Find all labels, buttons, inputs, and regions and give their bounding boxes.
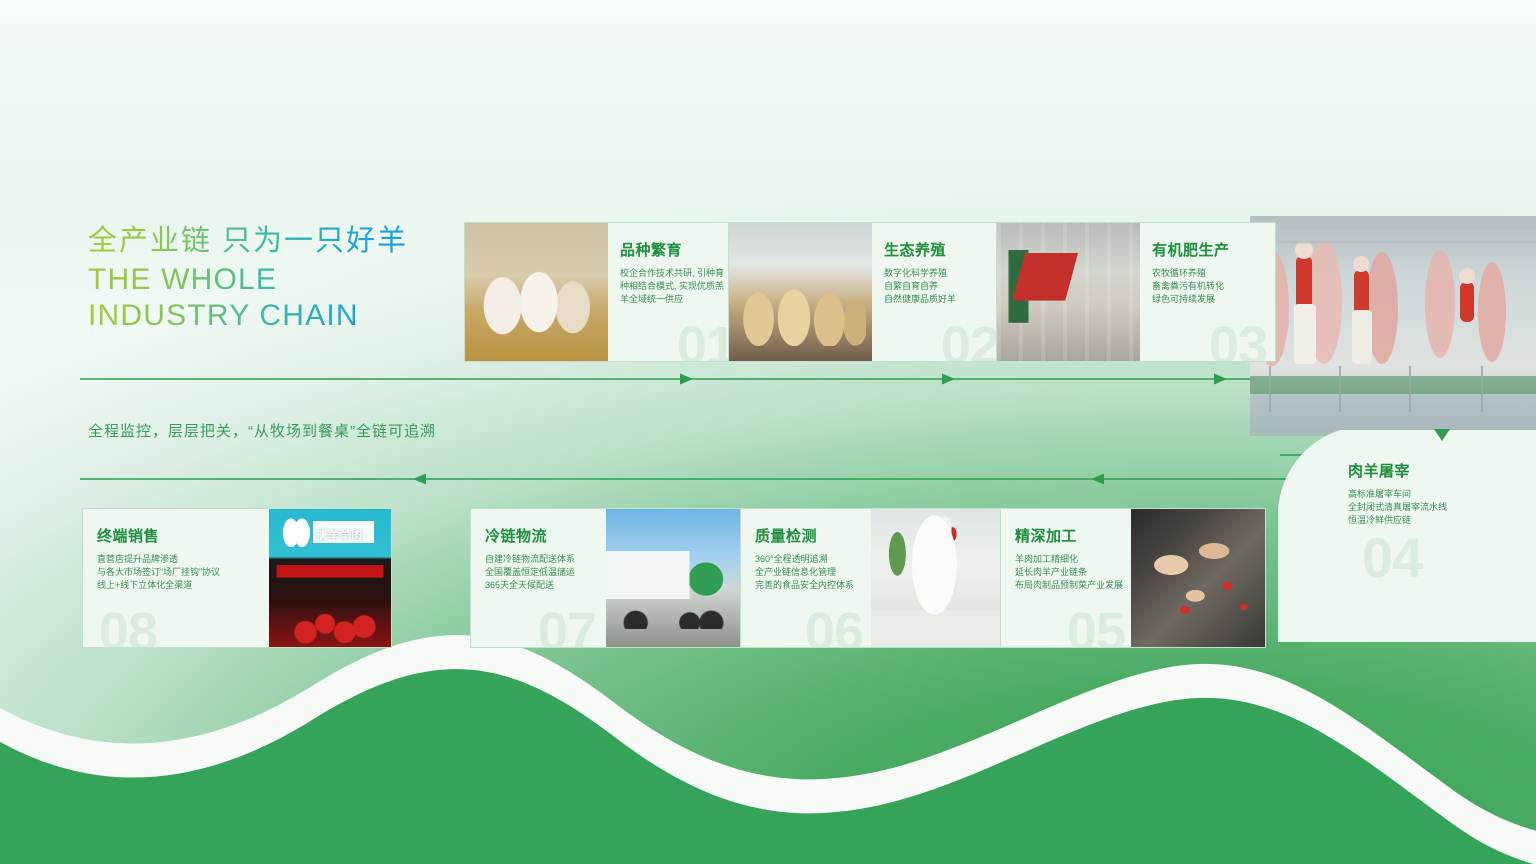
step-line: 自繁自育自养 bbox=[884, 280, 997, 293]
headline-block: 全产业链 只为一只好羊 THE WHOLE INDUSTRY CHAIN bbox=[88, 224, 408, 334]
headline-english-line2: INDUSTRY CHAIN bbox=[88, 298, 408, 334]
step-line: 农牧循环养殖 bbox=[1152, 267, 1265, 280]
step-number: 01 bbox=[677, 319, 735, 361]
step-line: 羊肉加工精细化 bbox=[1015, 553, 1121, 566]
step-line: 自然健康品质好羊 bbox=[884, 293, 997, 306]
step-line: 畜禽粪污有机转化 bbox=[1152, 280, 1265, 293]
step-title: 生态养殖 bbox=[884, 239, 997, 260]
step-card-05[interactable]: 精深加工 羊肉加工精细化 延长肉羊产业链条 布局肉制品预制菜产业发展 05 bbox=[1000, 508, 1266, 648]
step-line: 数字化科学养殖 bbox=[884, 267, 997, 280]
step-lines: 直营店提升品牌渗透 与各大市场签订“场厂挂钩”协议 线上+线下立体化全渠道 bbox=[97, 553, 259, 592]
step-line: 360°全程透明追溯 bbox=[755, 553, 861, 566]
step-line: 全国覆盖恒定低温储运 bbox=[485, 566, 596, 579]
headline-english-line1: THE WHOLE bbox=[88, 262, 408, 298]
step-card-01-text: 品种繁育 校企合作技术共研, 引种育 种相结合模式, 实现优质羔 羊全域统一供应… bbox=[608, 223, 743, 361]
step-lines: 高标准屠宰车间 全封闭式清真屠宰流水线 恒温冷鲜供应链 bbox=[1348, 488, 1530, 527]
step-line: 全封闭式清真屠宰流水线 bbox=[1348, 501, 1530, 514]
step-line: 高标准屠宰车间 bbox=[1348, 488, 1530, 501]
step-card-05-text: 精深加工 羊肉加工精细化 延长肉羊产业链条 布局肉制品预制菜产业发展 05 bbox=[1001, 509, 1131, 647]
step-card-08-text: 终端销售 直营店提升品牌渗透 与各大市场签订“场厂挂钩”协议 线上+线下立体化全… bbox=[83, 509, 269, 647]
step-number: 08 bbox=[99, 605, 157, 647]
lab-inspection-photo bbox=[871, 509, 1003, 648]
arrow-right-icon bbox=[680, 374, 693, 385]
step-title: 冷链物流 bbox=[485, 525, 596, 546]
step-title: 终端销售 bbox=[97, 525, 259, 546]
step-card-06[interactable]: 质量检测 360°全程透明追溯 全产业链信息化管理 完善的食品安全内控体系 06 bbox=[740, 508, 1004, 648]
step-line: 绿色可持续发展 bbox=[1152, 293, 1265, 306]
step-title: 精深加工 bbox=[1015, 525, 1121, 546]
step-line: 校企合作技术共研, 引种育 bbox=[620, 267, 733, 280]
arrow-right-icon bbox=[942, 374, 955, 385]
arrow-left-icon bbox=[413, 474, 426, 485]
processed-meat-photo bbox=[1131, 509, 1265, 648]
step-line: 羊全域统一供应 bbox=[620, 293, 733, 306]
step-card-01[interactable]: 品种繁育 校企合作技术共研, 引种育 种相结合模式, 实现优质羔 羊全域统一供应… bbox=[464, 222, 744, 362]
step-number: 05 bbox=[1067, 605, 1125, 647]
step-card-07-text: 冷链物流 自建冷链物流配送体系 全国覆盖恒定低温储运 365天全天候配送 07 bbox=[471, 509, 606, 647]
retail-store-photo: 唐羊羊肉 bbox=[269, 509, 391, 648]
step-card-04[interactable]: 肉羊屠宰 高标准屠宰车间 全封闭式清真屠宰流水线 恒温冷鲜供应链 04 bbox=[1340, 436, 1536, 636]
step-line: 自建冷链物流配送体系 bbox=[485, 553, 596, 566]
step-card-06-text: 质量检测 360°全程透明追溯 全产业链信息化管理 完善的食品安全内控体系 06 bbox=[741, 509, 871, 647]
step-line: 完善的食品安全内控体系 bbox=[755, 579, 861, 592]
step-card-02-text: 生态养殖 数字化科学养殖 自繁自育自养 自然健康品质好羊 02 bbox=[872, 223, 1007, 361]
step-title: 有机肥生产 bbox=[1152, 239, 1265, 260]
step-number: 06 bbox=[805, 605, 863, 647]
step-line: 与各大市场签订“场厂挂钩”协议 bbox=[97, 566, 259, 579]
step-number: 03 bbox=[1209, 319, 1267, 361]
step-number: 07 bbox=[538, 605, 596, 647]
flow-rail-forward bbox=[80, 372, 1310, 386]
slaughter-line-photo-large bbox=[1250, 216, 1536, 436]
step-line: 布局肉制品预制菜产业发展 bbox=[1015, 579, 1121, 592]
step-number: 02 bbox=[941, 319, 999, 361]
arrow-down-icon bbox=[1432, 428, 1452, 442]
step-line: 线上+线下立体化全渠道 bbox=[97, 579, 259, 592]
flow-caption: 全程监控，层层把关，“从牧场到餐桌”全链可追溯 bbox=[88, 420, 436, 441]
step-line: 延长肉羊产业链条 bbox=[1015, 566, 1121, 579]
step-card-03[interactable]: 有机肥生产 农牧循环养殖 畜禽粪污有机转化 绿色可持续发展 03 bbox=[996, 222, 1276, 362]
poster-stage: 全产业链 只为一只好羊 THE WHOLE INDUSTRY CHAIN 全程监… bbox=[0, 0, 1536, 864]
step-number: 04 bbox=[1362, 530, 1422, 586]
step-lines: 自建冷链物流配送体系 全国覆盖恒定低温储运 365天全天候配送 bbox=[485, 553, 596, 592]
headline-chinese: 全产业链 只为一只好羊 bbox=[88, 224, 408, 258]
step-card-08[interactable]: 终端销售 直营店提升品牌渗透 与各大市场签订“场厂挂钩”协议 线上+线下立体化全… bbox=[82, 508, 392, 648]
step-title: 质量检测 bbox=[755, 525, 861, 546]
step-line: 全产业链信息化管理 bbox=[755, 566, 861, 579]
step-card-07[interactable]: 冷链物流 自建冷链物流配送体系 全国覆盖恒定低温储运 365天全天候配送 07 bbox=[470, 508, 742, 648]
arrow-left-icon bbox=[1091, 474, 1104, 485]
step-lines: 校企合作技术共研, 引种育 种相结合模式, 实现优质羔 羊全域统一供应 bbox=[620, 267, 733, 306]
step-lines: 农牧循环养殖 畜禽粪污有机转化 绿色可持续发展 bbox=[1152, 267, 1265, 306]
arrow-right-icon bbox=[1214, 374, 1227, 385]
step-lines: 羊肉加工精细化 延长肉羊产业链条 布局肉制品预制菜产业发展 bbox=[1015, 553, 1121, 592]
step-title: 品种繁育 bbox=[620, 239, 733, 260]
step-card-03-text: 有机肥生产 农牧循环养殖 畜禽粪污有机转化 绿色可持续发展 03 bbox=[1140, 223, 1275, 361]
step-lines: 数字化科学养殖 自繁自育自养 自然健康品质好羊 bbox=[884, 267, 997, 306]
barn-sheep-photo bbox=[729, 223, 872, 362]
step-lines: 360°全程透明追溯 全产业链信息化管理 完善的食品安全内控体系 bbox=[755, 553, 861, 592]
step-card-02[interactable]: 生态养殖 数字化科学养殖 自繁自育自养 自然健康品质好羊 02 bbox=[728, 222, 1008, 362]
flow-rail-reverse bbox=[80, 472, 1310, 486]
step-line: 365天全天候配送 bbox=[485, 579, 596, 592]
store-sign-text: 唐羊羊肉 bbox=[301, 523, 379, 547]
step-line: 种相结合模式, 实现优质羔 bbox=[620, 280, 733, 293]
cold-chain-truck-photo bbox=[606, 509, 741, 648]
lambs-photo bbox=[465, 223, 608, 362]
step-title: 肉羊屠宰 bbox=[1348, 460, 1530, 481]
step-line: 直营店提升品牌渗透 bbox=[97, 553, 259, 566]
fertilizer-machine-photo bbox=[997, 223, 1140, 362]
